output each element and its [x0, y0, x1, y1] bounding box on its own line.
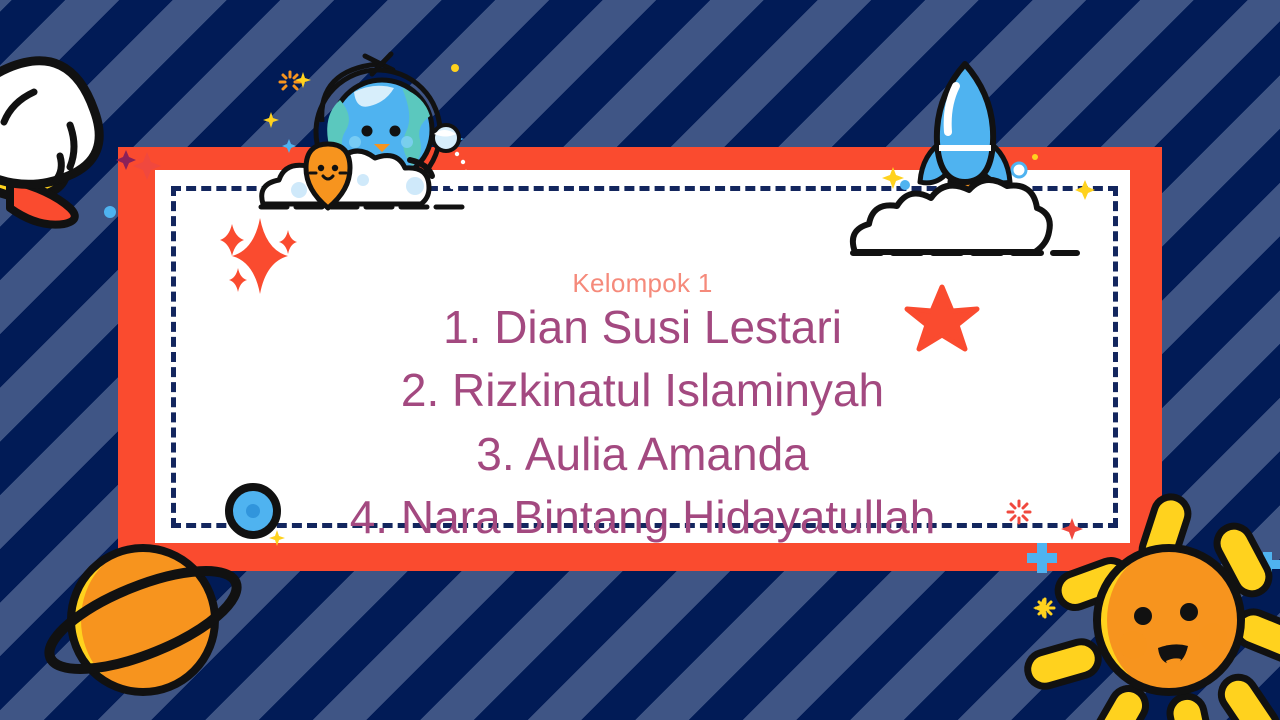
cloud-icon: [255, 160, 475, 210]
sparkle-cluster-icon: [212, 212, 312, 297]
slide-canvas: Kelompok 1 1. Dian Susi Lestari 2. Rizki…: [0, 0, 1280, 720]
star-icon: [905, 285, 979, 355]
cloud-icon: [845, 190, 1085, 260]
ufo-icon: [0, 30, 140, 230]
saturn-planet-icon: [38, 532, 248, 720]
location-pin-icon: [300, 140, 356, 210]
sun-character-icon: [1040, 500, 1280, 720]
